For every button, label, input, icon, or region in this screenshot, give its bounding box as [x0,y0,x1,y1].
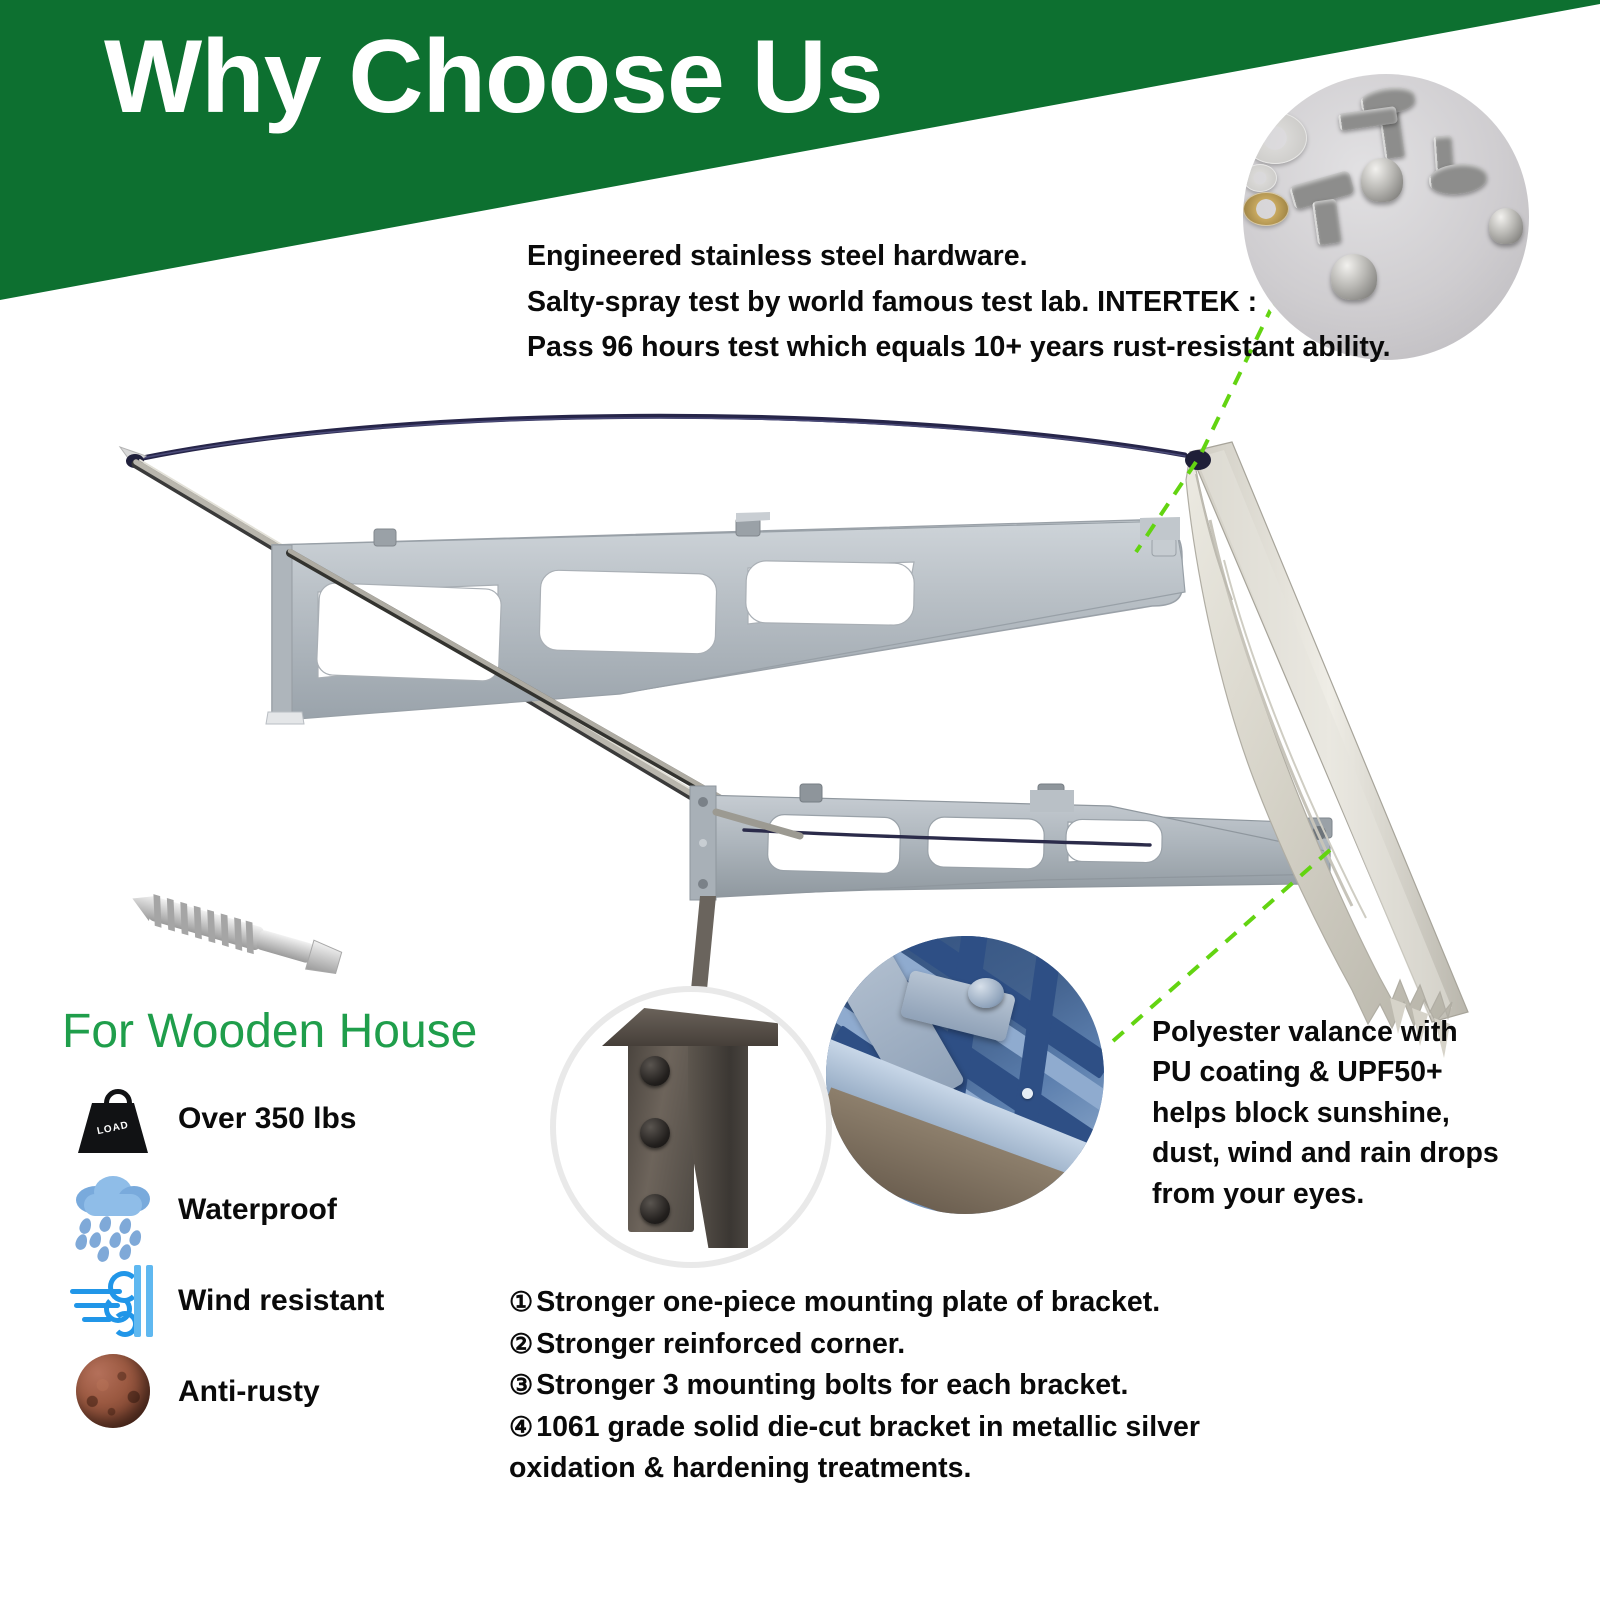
corner-photo [826,936,1104,1214]
plate-bolt [640,1056,670,1086]
feature-label-load: Over 350 lbs [178,1073,356,1164]
wind-icon [60,1255,164,1346]
valance-line-4: dust, wind and rain drops [1152,1133,1572,1173]
list-text: 1061 grade solid die-cut bracket in meta… [536,1411,1200,1443]
list-number: ② [509,1329,533,1359]
feature-label-waterproof: Waterproof [178,1164,337,1255]
valance-callout-text: Polyester valance with PU coating & UPF5… [1152,1012,1572,1214]
list-text: oxidation & hardening treatments. [509,1452,971,1484]
polyester-valance [1185,442,1468,1058]
plate-bolt [640,1118,670,1148]
feature-label-antirusty: Anti-rusty [178,1346,320,1437]
list-item-continuation: oxidation & hardening treatments. [509,1448,1200,1490]
lag-screw-icon [118,888,350,984]
infographic-root: Why Choose Us [0,0,1600,1600]
list-text: Stronger 3 mounting bolts for each brack… [536,1369,1128,1401]
hardware-line-3: Pass 96 hours test which equals 10+ year… [527,325,1391,371]
wooden-house-heading: For Wooden House [62,1004,477,1059]
feature-list: LOAD Over 350 lbs [60,1073,480,1437]
hardware-callout-text: Engineered stainless steel hardware. Sal… [527,234,1391,371]
hardware-line-2: Salty-spray test by world famous test la… [527,280,1391,326]
valance-line-1: Polyester valance with [1152,1012,1572,1052]
feature-row-antirusty: Anti-rusty [60,1346,480,1437]
valance-line-5: from your eyes. [1152,1174,1572,1214]
hardware-line-1: Engineered stainless steel hardware. [527,234,1391,280]
list-number: ③ [509,1370,533,1400]
rust-ball-icon [60,1346,164,1437]
numbered-feature-list: ①Stronger one-piece mounting plate of br… [509,1282,1200,1490]
weight-load-icon: LOAD [60,1073,164,1164]
list-text: Stronger one-piece mounting plate of bra… [536,1286,1160,1318]
list-item: ①Stronger one-piece mounting plate of br… [509,1282,1200,1324]
feature-row-waterproof: Waterproof [60,1164,480,1255]
list-item: ②Stronger reinforced corner. [509,1324,1200,1366]
feature-row-wind: Wind resistant [60,1255,480,1346]
feature-label-wind: Wind resistant [178,1255,384,1346]
valance-line-3: helps block sunshine, [1152,1093,1572,1133]
list-number: ① [509,1287,533,1317]
feature-row-load: LOAD Over 350 lbs [60,1073,480,1164]
list-text: Stronger reinforced corner. [536,1328,905,1360]
list-item: ④1061 grade solid die-cut bracket in met… [509,1407,1200,1449]
valance-line-2: PU coating & UPF50+ [1152,1052,1572,1092]
bracket-plate-photo [556,992,826,1262]
list-number: ④ [509,1412,533,1442]
plate-bolt [640,1194,670,1224]
rain-cloud-icon [60,1164,164,1255]
list-item: ③Stronger 3 mounting bolts for each brac… [509,1365,1200,1407]
